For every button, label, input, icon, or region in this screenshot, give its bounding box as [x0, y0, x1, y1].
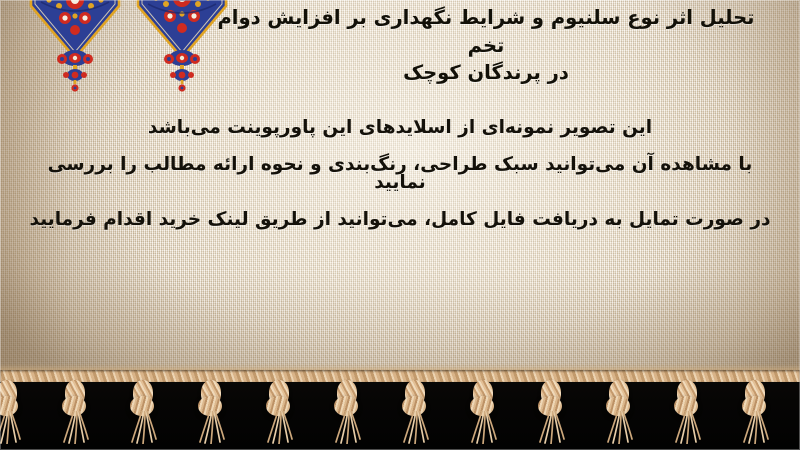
fringe-strands: [537, 411, 565, 444]
slide-body-line-1: این تصویر نمونه‌ای از اسلایدهای این پاور…: [22, 110, 778, 147]
slide-title-line-2: در پرندگان کوچک: [206, 59, 766, 87]
fringe-strands: [605, 411, 633, 444]
fringe-tassel: [60, 378, 90, 444]
fringe-strands: [469, 411, 497, 444]
persian-illumination-pendant-icon: [53, 48, 97, 94]
fringe-tassel: [672, 378, 702, 444]
fringe-tassel: [468, 378, 498, 444]
fringe-tassel: [604, 378, 634, 444]
fringe-tassel: [264, 378, 294, 444]
slide-canvas: تحلیل اثر نوع سلنیوم و شرایط نگهداری بر …: [0, 0, 800, 450]
fringe-strands: [265, 411, 293, 444]
fringe-tassel: [536, 378, 566, 444]
slide-title: تحلیل اثر نوع سلنیوم و شرایط نگهداری بر …: [206, 4, 766, 87]
fringe-strands: [61, 411, 89, 444]
fringe-strands: [741, 411, 769, 444]
slide-body-line-2: با مشاهده آن می‌توانید سبک طراحی، رنگ‌بن…: [22, 147, 778, 202]
fringe-strands: [197, 411, 225, 444]
fringe-strands: [333, 411, 361, 444]
fringe-strands: [673, 411, 701, 444]
persian-illumination-medallion-icon: [29, 0, 121, 54]
fringe-strands: [0, 411, 21, 444]
fringe-tassel: [332, 378, 362, 444]
slide-title-line-1: تحلیل اثر نوع سلنیوم و شرایط نگهداری بر …: [206, 4, 766, 59]
persian-illumination-pendant-icon: [160, 48, 204, 94]
fringe-tassel: [196, 378, 226, 444]
fringe-strands: [129, 411, 157, 444]
fringe-tassel: [740, 378, 770, 444]
slide-body-line-3: در صورت تمایل به دریافت فایل کامل، می‌تو…: [22, 202, 778, 239]
slide-body: این تصویر نمونه‌ای از اسلایدهای این پاور…: [22, 110, 778, 238]
fringe-tassel: [0, 378, 22, 444]
fringe-tassel: [400, 378, 430, 444]
fringe-tassel: [128, 378, 158, 444]
fringe-strands: [401, 411, 429, 444]
